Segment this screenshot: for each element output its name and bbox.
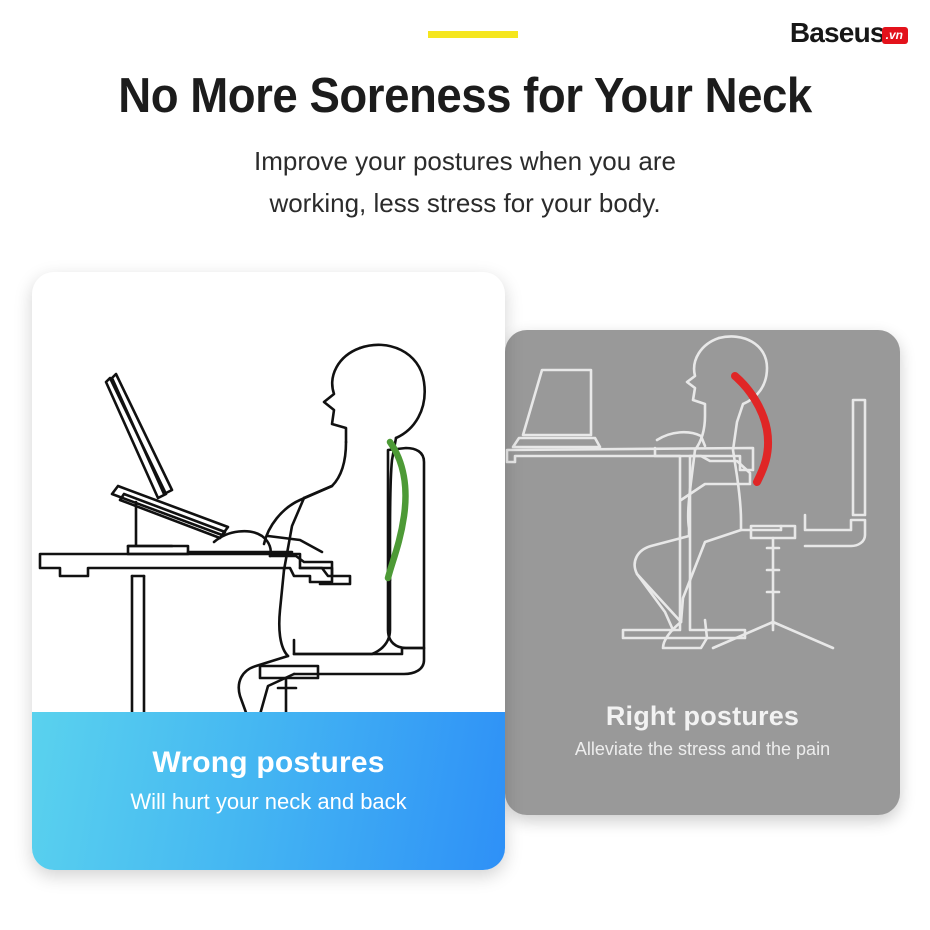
right-card-subtitle: Alleviate the stress and the pain [505, 739, 900, 760]
left-card-title: Wrong postures [32, 746, 505, 780]
comparison-cards: Right postures Alleviate the stress and … [0, 0, 930, 930]
right-card-caption: Right postures Alleviate the stress and … [505, 701, 900, 760]
hunched-posture-illustration [505, 330, 900, 670]
upright-posture-illustration [32, 330, 505, 750]
wrong-postures-banner: Wrong postures Will hurt your neck and b… [32, 712, 505, 870]
right-card-title: Right postures [505, 701, 900, 732]
card-wrong-postures[interactable]: Wrong postures Will hurt your neck and b… [32, 272, 505, 870]
card-right-postures[interactable]: Right postures Alleviate the stress and … [505, 330, 900, 815]
left-card-subtitle: Will hurt your neck and back [32, 789, 505, 815]
